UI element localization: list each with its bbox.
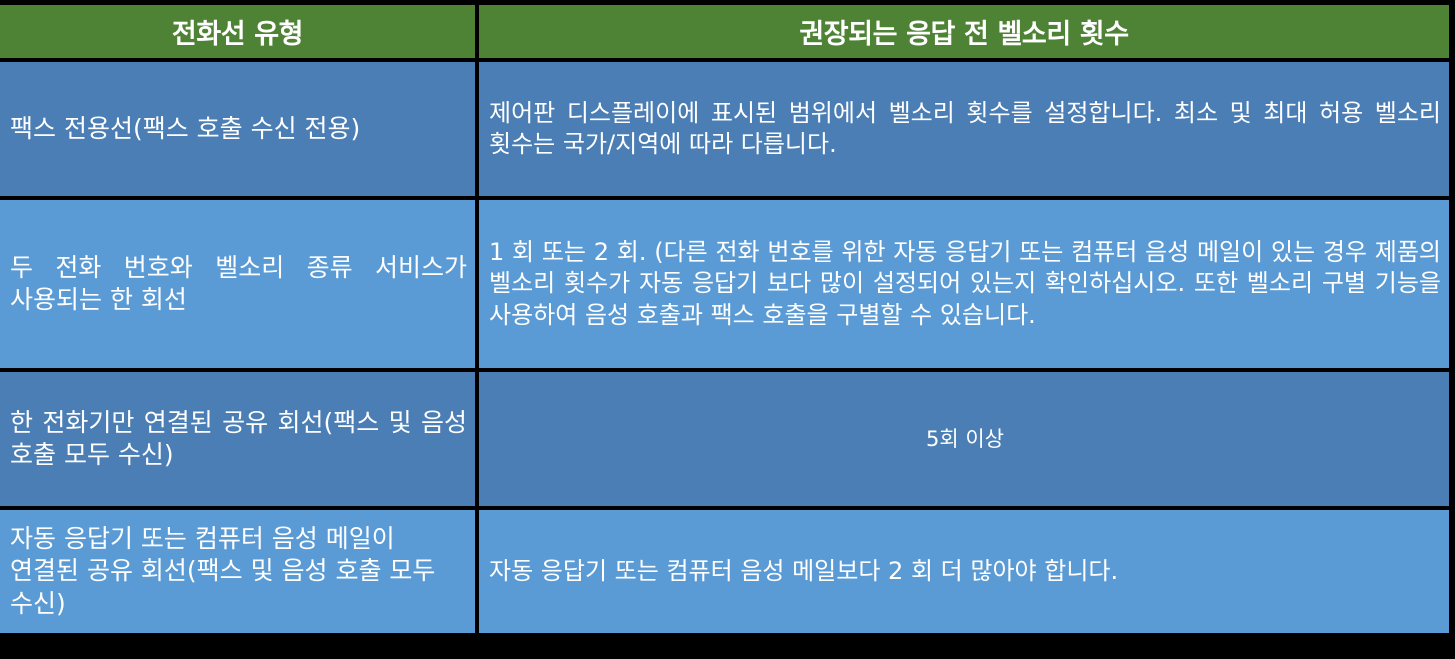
recommended-rings-text: 제어판 디스플레이에 표시된 범위에서 벨소리 횟수를 설정합니다. 최소 및 … — [479, 92, 1449, 166]
table-row: 두 전화 번호와 벨소리 종류 서비스가 사용되는 한 회선 1 회 또는 2 … — [0, 200, 1449, 372]
ring-count-table: 전화선 유형 권장되는 응답 전 벨소리 횟수 팩스 전용선(팩스 호출 수신 … — [0, 5, 1449, 637]
ring-count-table-container: 전화선 유형 권장되는 응답 전 벨소리 횟수 팩스 전용선(팩스 호출 수신 … — [0, 5, 1455, 637]
phone-line-type-text: 한 전화기만 연결된 공유 회선(팩스 및 음성 호출 모두 수신) — [0, 401, 475, 478]
recommended-rings-text: 5회 이상 — [479, 420, 1449, 459]
cell-phone-line-type: 두 전화 번호와 벨소리 종류 서비스가 사용되는 한 회선 — [0, 200, 479, 372]
table-row: 팩스 전용선(팩스 호출 수신 전용) 제어판 디스플레이에 표시된 범위에서 … — [0, 62, 1449, 200]
table-header-row: 전화선 유형 권장되는 응답 전 벨소리 횟수 — [0, 5, 1449, 62]
cell-phone-line-type: 팩스 전용선(팩스 호출 수신 전용) — [0, 62, 479, 200]
cell-recommended-rings: 자동 응답기 또는 컴퓨터 음성 메일보다 2 회 더 많아야 합니다. — [479, 510, 1449, 637]
table-row: 한 전화기만 연결된 공유 회선(팩스 및 음성 호출 모두 수신) 5회 이상 — [0, 372, 1449, 510]
recommended-rings-text: 자동 응답기 또는 컴퓨터 음성 메일보다 2 회 더 많아야 합니다. — [479, 550, 1449, 593]
cell-phone-line-type: 자동 응답기 또는 컴퓨터 음성 메일이 연결된 공유 회선(팩스 및 음성 호… — [0, 510, 479, 637]
column-header-phone-line-type: 전화선 유형 — [0, 5, 479, 62]
recommended-rings-text: 1 회 또는 2 회. (다른 전화 번호를 위한 자동 응답기 또는 컴퓨터 … — [479, 231, 1449, 337]
cell-recommended-rings: 1 회 또는 2 회. (다른 전화 번호를 위한 자동 응답기 또는 컴퓨터 … — [479, 200, 1449, 372]
cell-recommended-rings: 5회 이상 — [479, 372, 1449, 510]
cell-recommended-rings: 제어판 디스플레이에 표시된 범위에서 벨소리 횟수를 설정합니다. 최소 및 … — [479, 62, 1449, 200]
cell-phone-line-type: 한 전화기만 연결된 공유 회선(팩스 및 음성 호출 모두 수신) — [0, 372, 479, 510]
phone-line-type-text: 팩스 전용선(팩스 호출 수신 전용) — [0, 107, 475, 152]
phone-line-type-text: 두 전화 번호와 벨소리 종류 서비스가 사용되는 한 회선 — [0, 246, 475, 323]
table-row: 자동 응답기 또는 컴퓨터 음성 메일이 연결된 공유 회선(팩스 및 음성 호… — [0, 510, 1449, 637]
column-header-recommended-rings: 권장되는 응답 전 벨소리 횟수 — [479, 5, 1449, 62]
phone-line-type-text: 자동 응답기 또는 컴퓨터 음성 메일이 연결된 공유 회선(팩스 및 음성 호… — [0, 517, 475, 627]
